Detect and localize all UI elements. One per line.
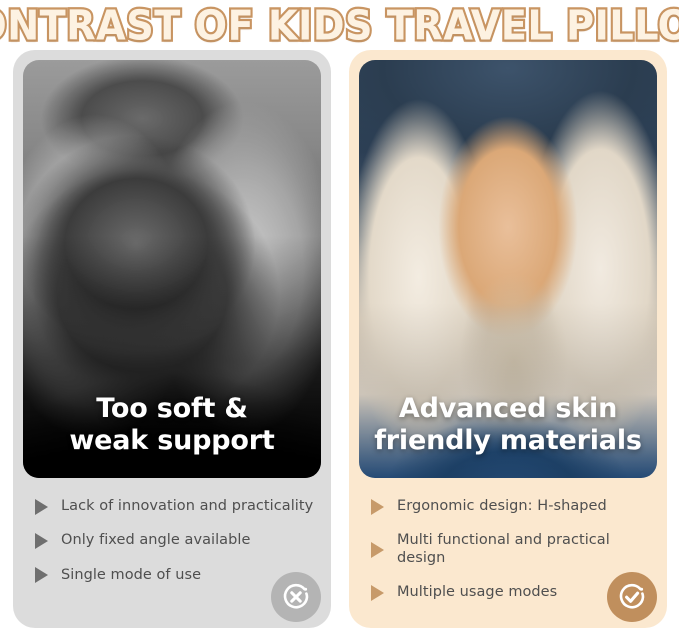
negative-bullet-2: Only fixed angle available: [61, 532, 250, 549]
triangle-bullet-icon: [371, 499, 384, 515]
triangle-bullet-icon: [371, 542, 384, 558]
negative-comparison-card: Too soft & weak support Lack of innovati…: [13, 50, 331, 628]
negative-bullet-3: Single mode of use: [61, 567, 201, 584]
negative-product-photo: Too soft & weak support: [23, 60, 321, 478]
triangle-bullet-icon: [35, 533, 48, 549]
list-item: Ergonomic design: H-shaped: [371, 498, 653, 515]
list-item: Multi functional and practical design: [371, 532, 653, 567]
list-item: Lack of innovation and practicality: [35, 498, 317, 515]
negative-bullet-list: Lack of innovation and practicality Only…: [23, 498, 321, 584]
positive-bullet-2: Multi functional and practical design: [397, 532, 653, 567]
positive-bullet-3: Multiple usage modes: [397, 584, 557, 601]
negative-status-badge: [271, 572, 321, 622]
negative-caption-line-2: weak support: [33, 425, 311, 456]
positive-photo-caption: Advanced skin friendly materials: [359, 393, 657, 456]
positive-status-badge: [607, 572, 657, 622]
negative-caption-line-1: Too soft &: [33, 393, 311, 424]
positive-bullet-1: Ergonomic design: H-shaped: [397, 498, 607, 515]
positive-product-photo: Advanced skin friendly materials: [359, 60, 657, 478]
circle-check-icon: [615, 580, 649, 614]
comparison-panels: Too soft & weak support Lack of innovati…: [0, 50, 679, 628]
positive-caption-line-2: friendly materials: [369, 425, 647, 456]
list-item: Only fixed angle available: [35, 532, 317, 549]
circle-x-icon: [279, 580, 313, 614]
page-title: CONTRAST OF KIDS TRAVEL PILLOW: [0, 3, 679, 50]
triangle-bullet-icon: [371, 585, 384, 601]
positive-caption-line-1: Advanced skin: [369, 393, 647, 424]
page-header: CONTRAST OF KIDS TRAVEL PILLOW: [0, 0, 679, 50]
positive-comparison-card: Advanced skin friendly materials Ergonom…: [349, 50, 667, 628]
negative-photo-caption: Too soft & weak support: [23, 393, 321, 456]
negative-bullet-1: Lack of innovation and practicality: [61, 498, 313, 515]
triangle-bullet-icon: [35, 567, 48, 583]
triangle-bullet-icon: [35, 499, 48, 515]
